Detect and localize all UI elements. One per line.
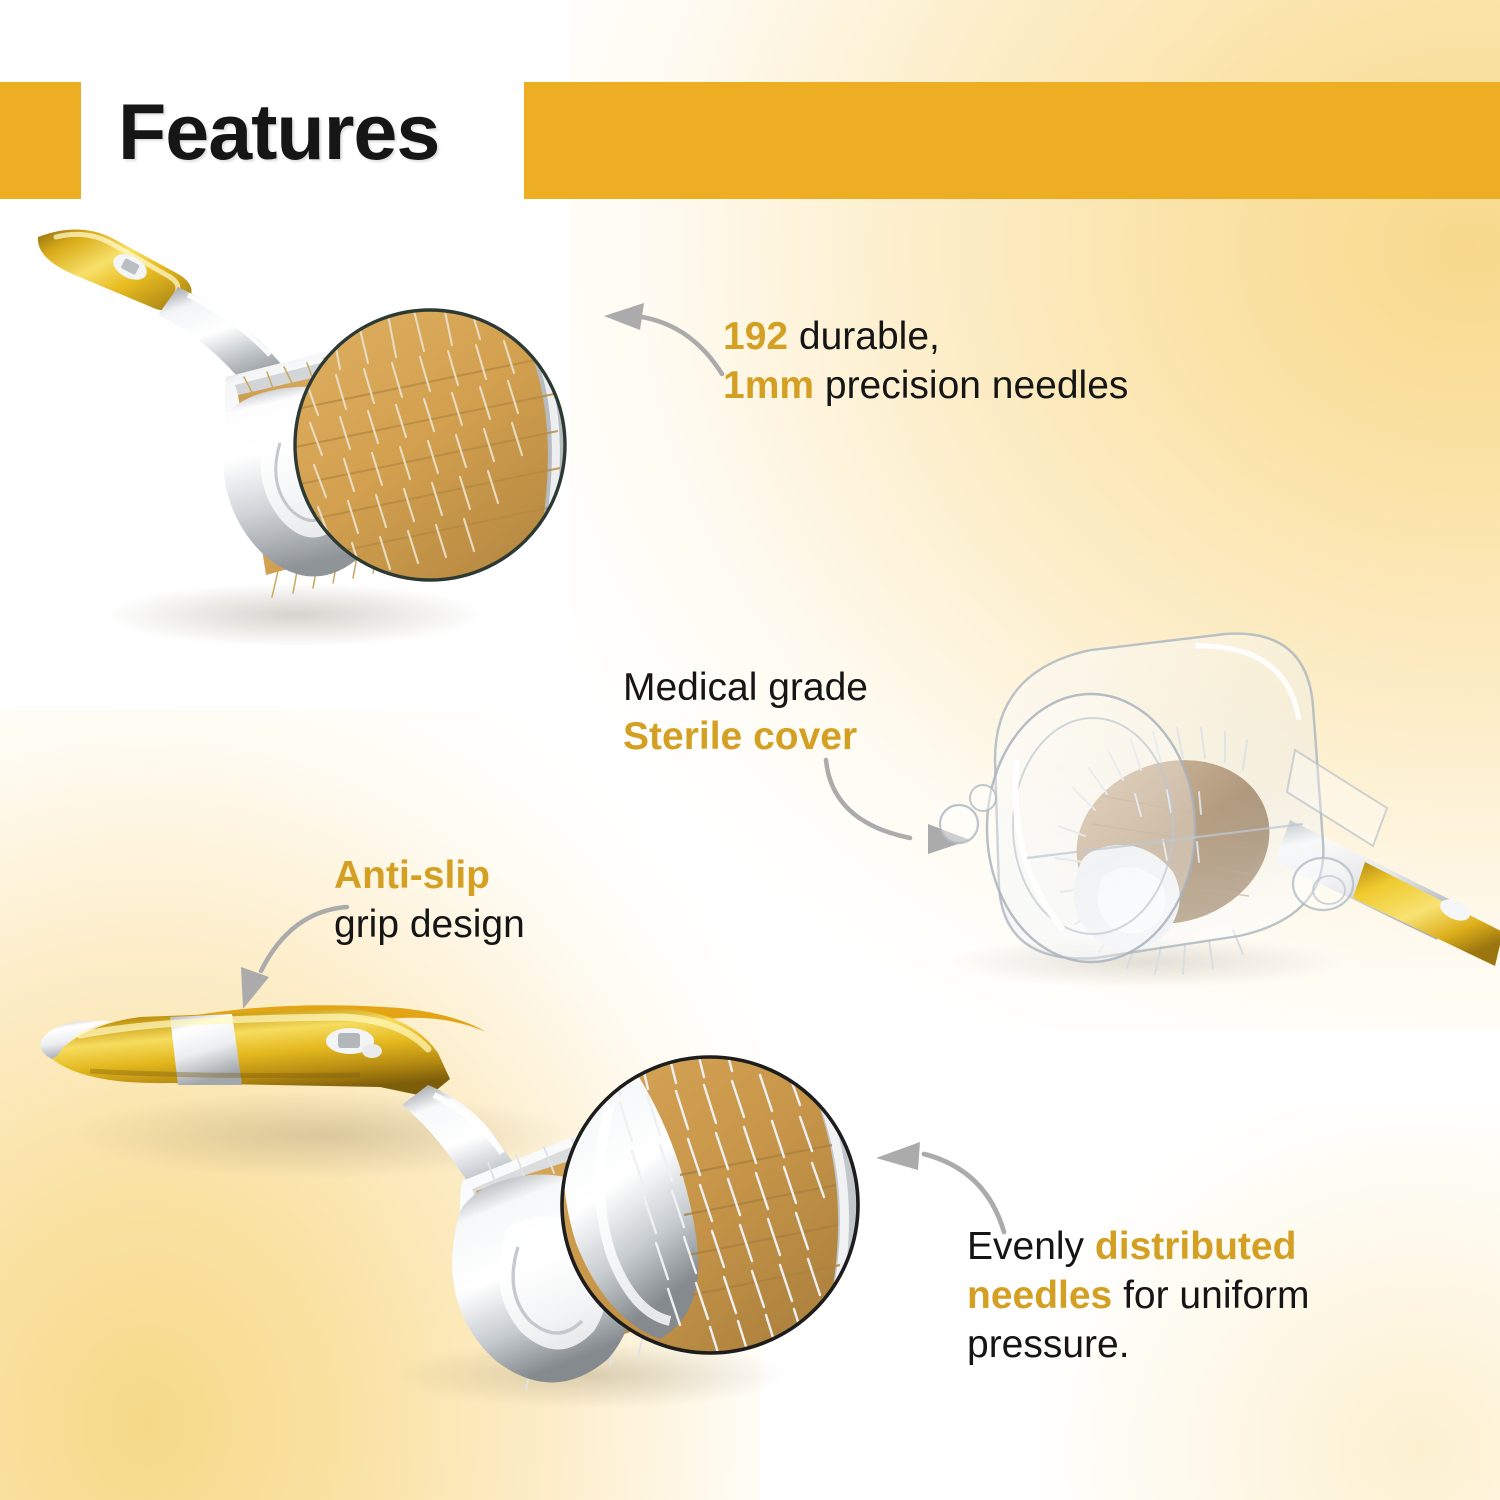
needle-count-callout: 192 durable, 1mm precision needles — [723, 312, 1283, 410]
needle-count-line2: 1mm precision needles — [723, 361, 1283, 410]
anti-slip-line1: Anti-slip — [334, 851, 654, 900]
header-left-accent-block — [0, 82, 81, 199]
features-infographic: Features — [0, 0, 1500, 1500]
arrow-to-needles-zoom-icon — [596, 300, 726, 380]
anti-slip-callout: Anti-slip grip design — [334, 851, 654, 949]
needle-count-line1: 192 durable, — [723, 312, 1283, 361]
roller-needles-zoom-image — [30, 215, 640, 645]
roller-sterile-cover-image — [895, 610, 1500, 990]
header-right-bar — [524, 82, 1500, 199]
even-distribution-seg1: Evenly — [967, 1225, 1095, 1268]
even-distribution-callout: Evenly distributed needles for uniform p… — [967, 1222, 1407, 1369]
page-title: Features — [118, 92, 439, 171]
anti-slip-highlight: Anti-slip — [334, 854, 490, 897]
needle-count-rest: durable, — [788, 315, 940, 358]
needle-depth-highlight: 1mm — [723, 364, 814, 407]
anti-slip-line2: grip design — [334, 900, 654, 949]
needle-count-highlight: 192 — [723, 315, 788, 358]
needle-depth-rest: precision needles — [814, 364, 1128, 407]
roller-grip-and-needles-image — [20, 975, 960, 1445]
